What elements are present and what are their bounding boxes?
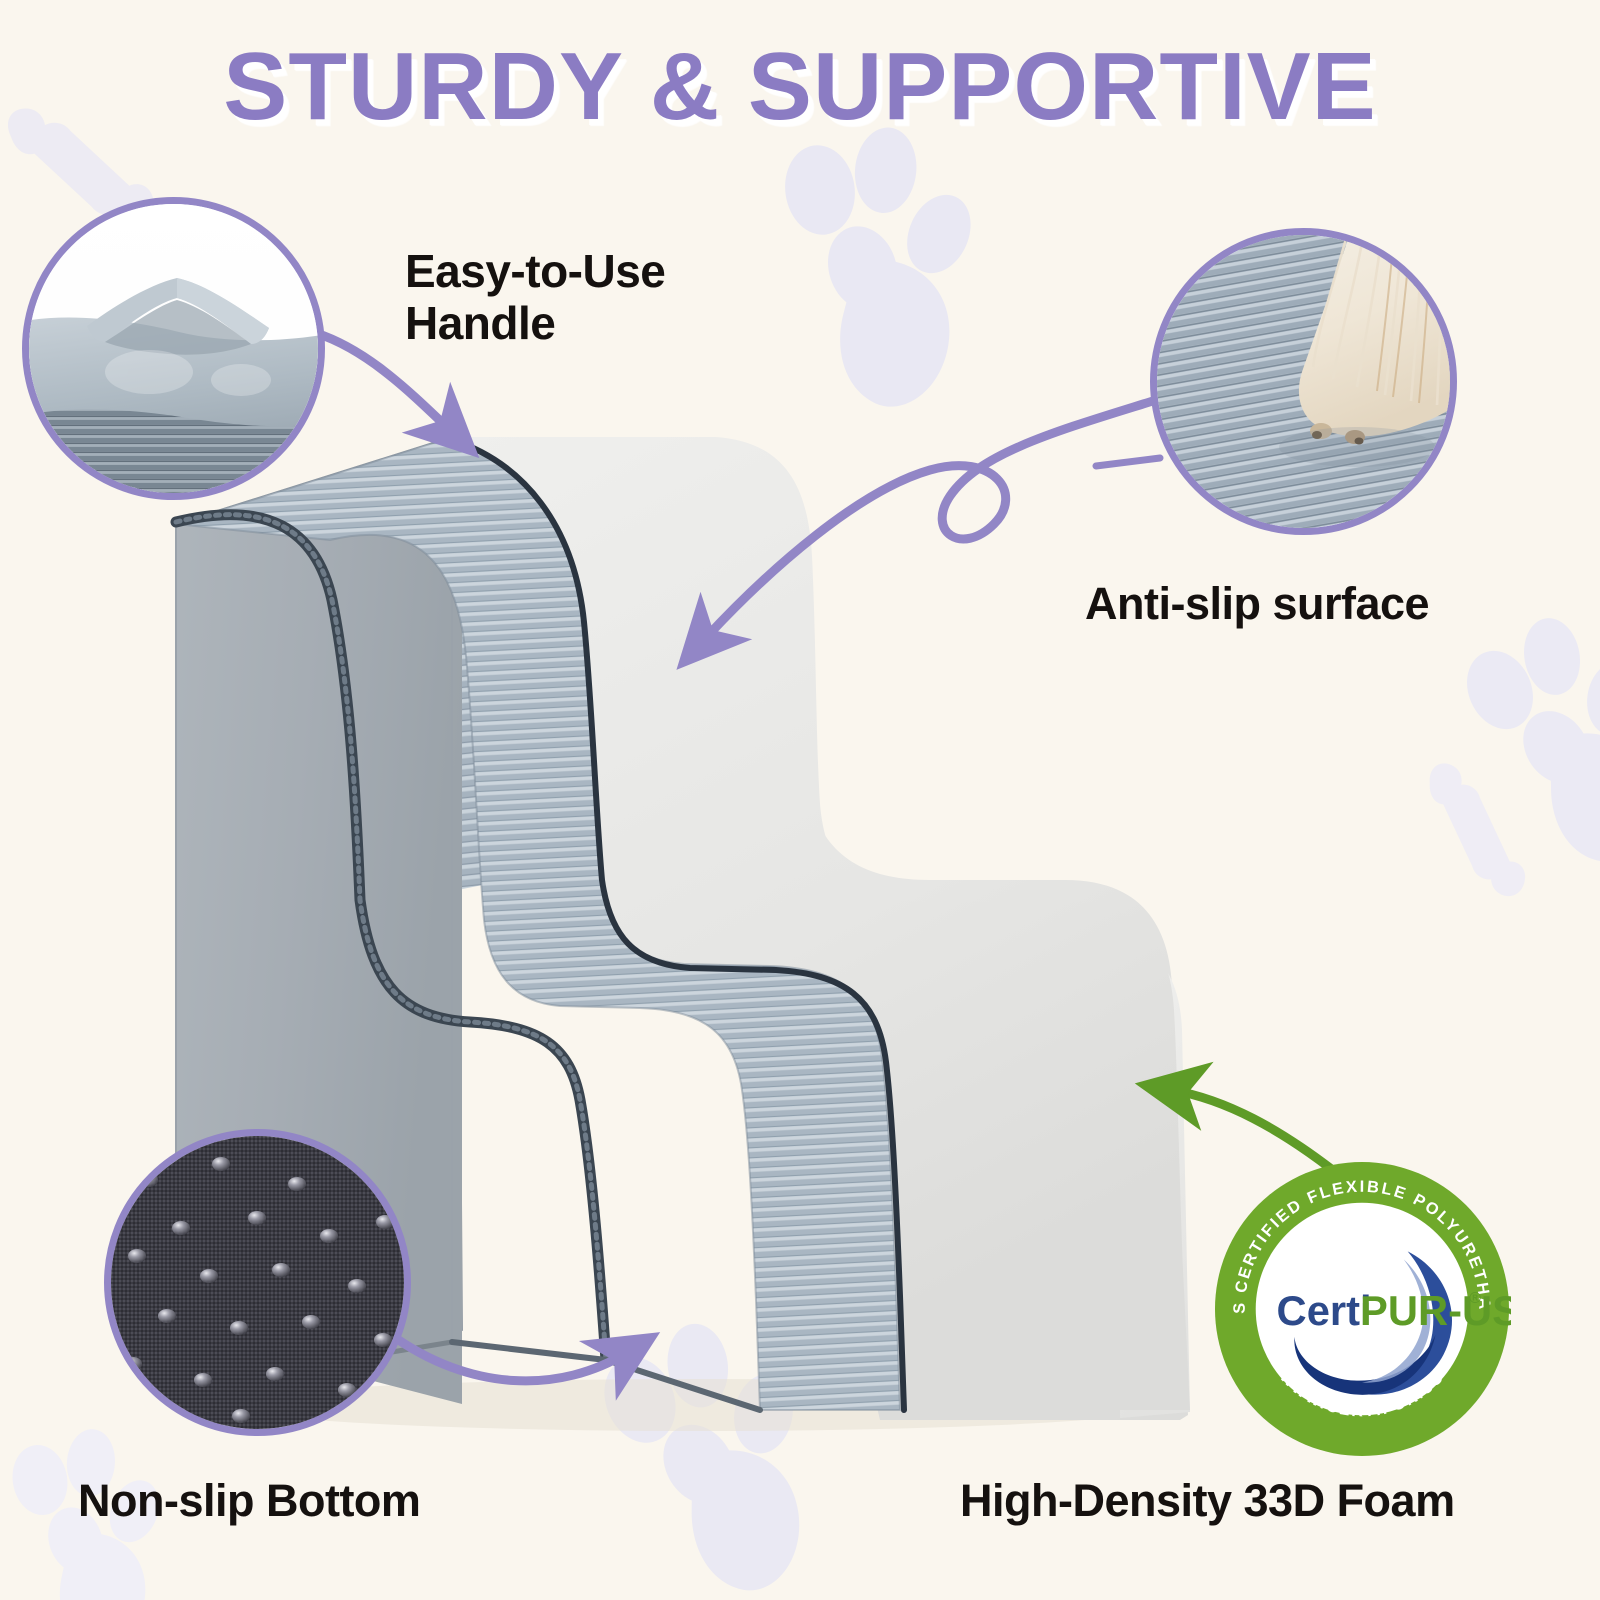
callout-label-foam: High-Density 33D Foam xyxy=(960,1475,1455,1526)
badge-brand-certi: Certi xyxy=(1277,1287,1372,1334)
inset-nonslip-closeup[interactable] xyxy=(104,1129,411,1436)
bone-icon-right xyxy=(1397,759,1556,901)
riser-step-1 xyxy=(612,612,778,1030)
product-top-panel xyxy=(455,437,1188,1420)
grip-dots-image xyxy=(111,1136,411,1436)
inset-handle-closeup[interactable] xyxy=(22,197,325,500)
paw-icon-top-center xyxy=(739,107,994,417)
callout-label-nonslip: Non-slip Bottom xyxy=(78,1475,420,1526)
infographic-canvas: STURDY & SUPPORTIVE Easy-to-Use Handle A… xyxy=(0,0,1600,1600)
badge-registered-mark: ® xyxy=(1469,1290,1481,1307)
callout-label-antislip: Anti-slip surface xyxy=(1085,578,1429,629)
badge-brand-purus: PUR-US xyxy=(1360,1287,1511,1334)
leader-line-paw xyxy=(1096,458,1160,466)
arrow-nonslip xyxy=(390,1334,628,1381)
paw-on-tread-image xyxy=(1157,235,1457,535)
page-title: STURDY & SUPPORTIVE xyxy=(0,32,1600,142)
tread-step-1 xyxy=(176,437,628,905)
handle-closeup-image xyxy=(29,204,325,500)
callout-label-handle: Easy-to-Use Handle xyxy=(405,245,665,350)
certipur-us-badge[interactable]: CONTAINS CERTIFIED FLEXIBLE POLYURETHANE… xyxy=(1213,1160,1511,1458)
paw-icon-mid-right xyxy=(1451,607,1600,876)
stitched-seam-right xyxy=(452,440,904,1410)
arrow-foam xyxy=(1172,1090,1330,1168)
stitch-edge-top xyxy=(176,514,360,906)
inset-antislip-closeup[interactable] xyxy=(1150,228,1457,535)
paw-icon-bottom-center xyxy=(589,1315,813,1600)
